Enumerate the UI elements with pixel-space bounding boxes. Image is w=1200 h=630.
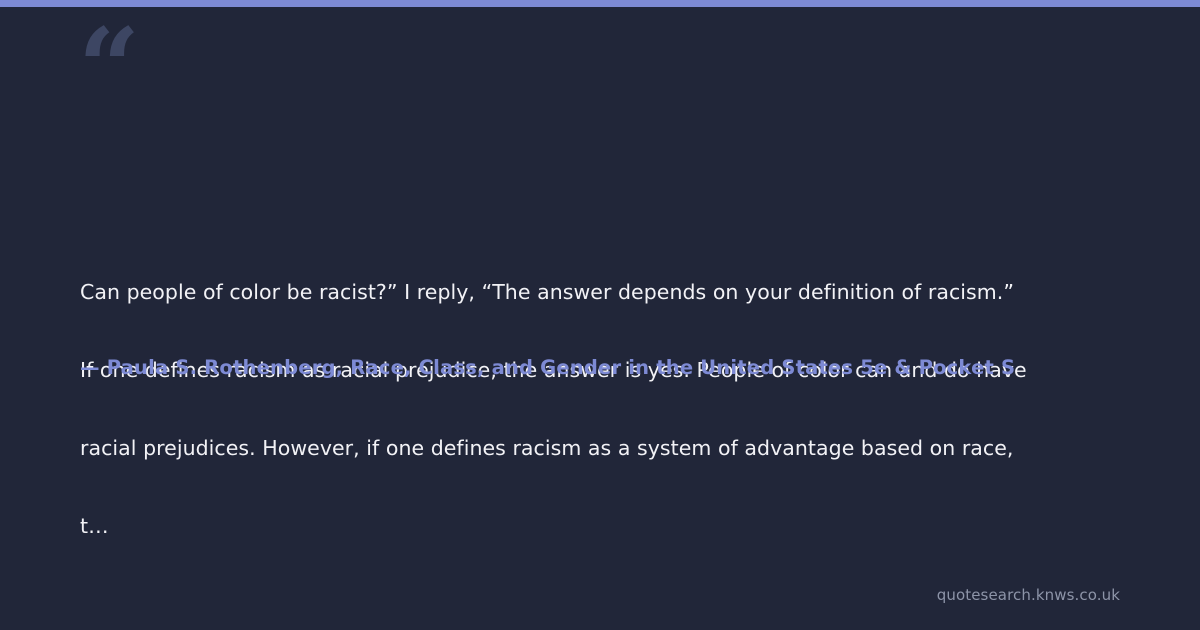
- opening-quote-icon: “: [78, 14, 138, 122]
- source-url: quotesearch.knws.co.uk: [937, 585, 1120, 605]
- quote-text: Can people of color be racist?” I reply,…: [80, 227, 1190, 591]
- quote-attribution: — Paula S. Rothenberg, Race, Class, and …: [80, 355, 1015, 381]
- quote-line: racial prejudices. However, if one defin…: [80, 435, 1190, 461]
- quote-line: t…: [80, 513, 1190, 539]
- quote-card: “ Can people of color be racist?” I repl…: [0, 0, 1200, 630]
- top-accent-bar: [0, 0, 1200, 7]
- attribution-text: Paula S. Rothenberg, Race, Class, and Ge…: [107, 356, 1016, 379]
- quote-line: Can people of color be racist?” I reply,…: [80, 279, 1190, 305]
- attribution-dash: —: [80, 356, 100, 379]
